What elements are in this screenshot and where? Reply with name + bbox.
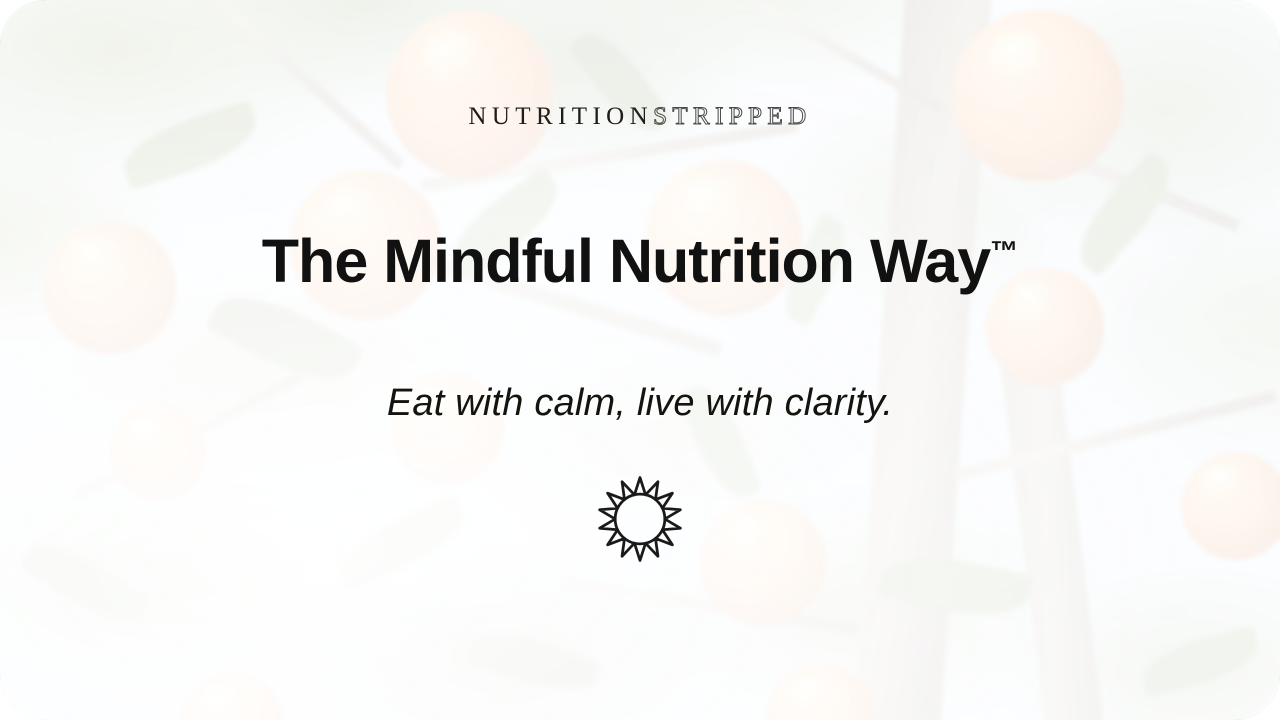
slide-content: NUTRITION STRIPPED The Mindful Nutrition… bbox=[0, 0, 1280, 720]
brand-logo-solid-word: NUTRITION bbox=[468, 104, 653, 129]
sun-icon bbox=[594, 473, 686, 565]
page-title: The Mindful Nutrition Way™ bbox=[262, 229, 1018, 293]
trademark-symbol: ™ bbox=[990, 236, 1018, 267]
page-title-text: The Mindful Nutrition Way bbox=[262, 227, 990, 295]
page-subtitle: Eat with calm, live with clarity. bbox=[387, 382, 893, 425]
sun-ray-ring bbox=[600, 478, 681, 561]
slide-canvas: NUTRITION STRIPPED The Mindful Nutrition… bbox=[0, 0, 1280, 720]
sun-core-circle bbox=[615, 494, 665, 544]
brand-logo-outline-word: STRIPPED bbox=[653, 104, 812, 129]
brand-logo: NUTRITION STRIPPED bbox=[468, 104, 811, 129]
